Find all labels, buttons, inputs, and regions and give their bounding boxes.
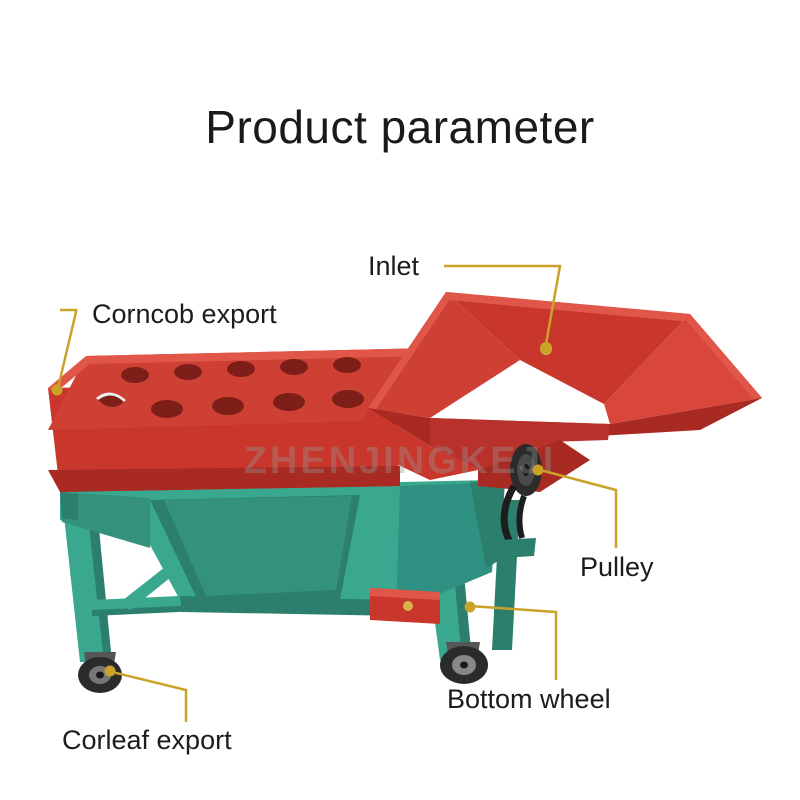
callout-label-corleaf-export: Corleaf export [62, 725, 232, 756]
leader-line-corncob [58, 310, 76, 388]
callout-label-pulley: Pulley [580, 552, 654, 583]
callout-leader-lines [0, 0, 800, 800]
leader-dot-corncob [52, 385, 63, 396]
leader-dot-pulley [533, 465, 544, 476]
callout-label-corncob-export: Corncob export [92, 299, 277, 330]
leader-line-bottom-wheel [470, 606, 556, 680]
product-parameter-diagram: Product parameter [0, 0, 800, 800]
leader-line-inlet [444, 266, 560, 344]
callout-label-inlet: Inlet [368, 251, 419, 282]
leader-line-pulley [540, 470, 616, 548]
leader-line-corleaf [112, 672, 186, 722]
leader-dot-bottom-wheel [465, 602, 476, 613]
callout-label-bottom-wheel: Bottom wheel [447, 684, 611, 715]
leader-dot-inlet [540, 342, 552, 354]
leader-dot-corleaf [105, 666, 116, 677]
